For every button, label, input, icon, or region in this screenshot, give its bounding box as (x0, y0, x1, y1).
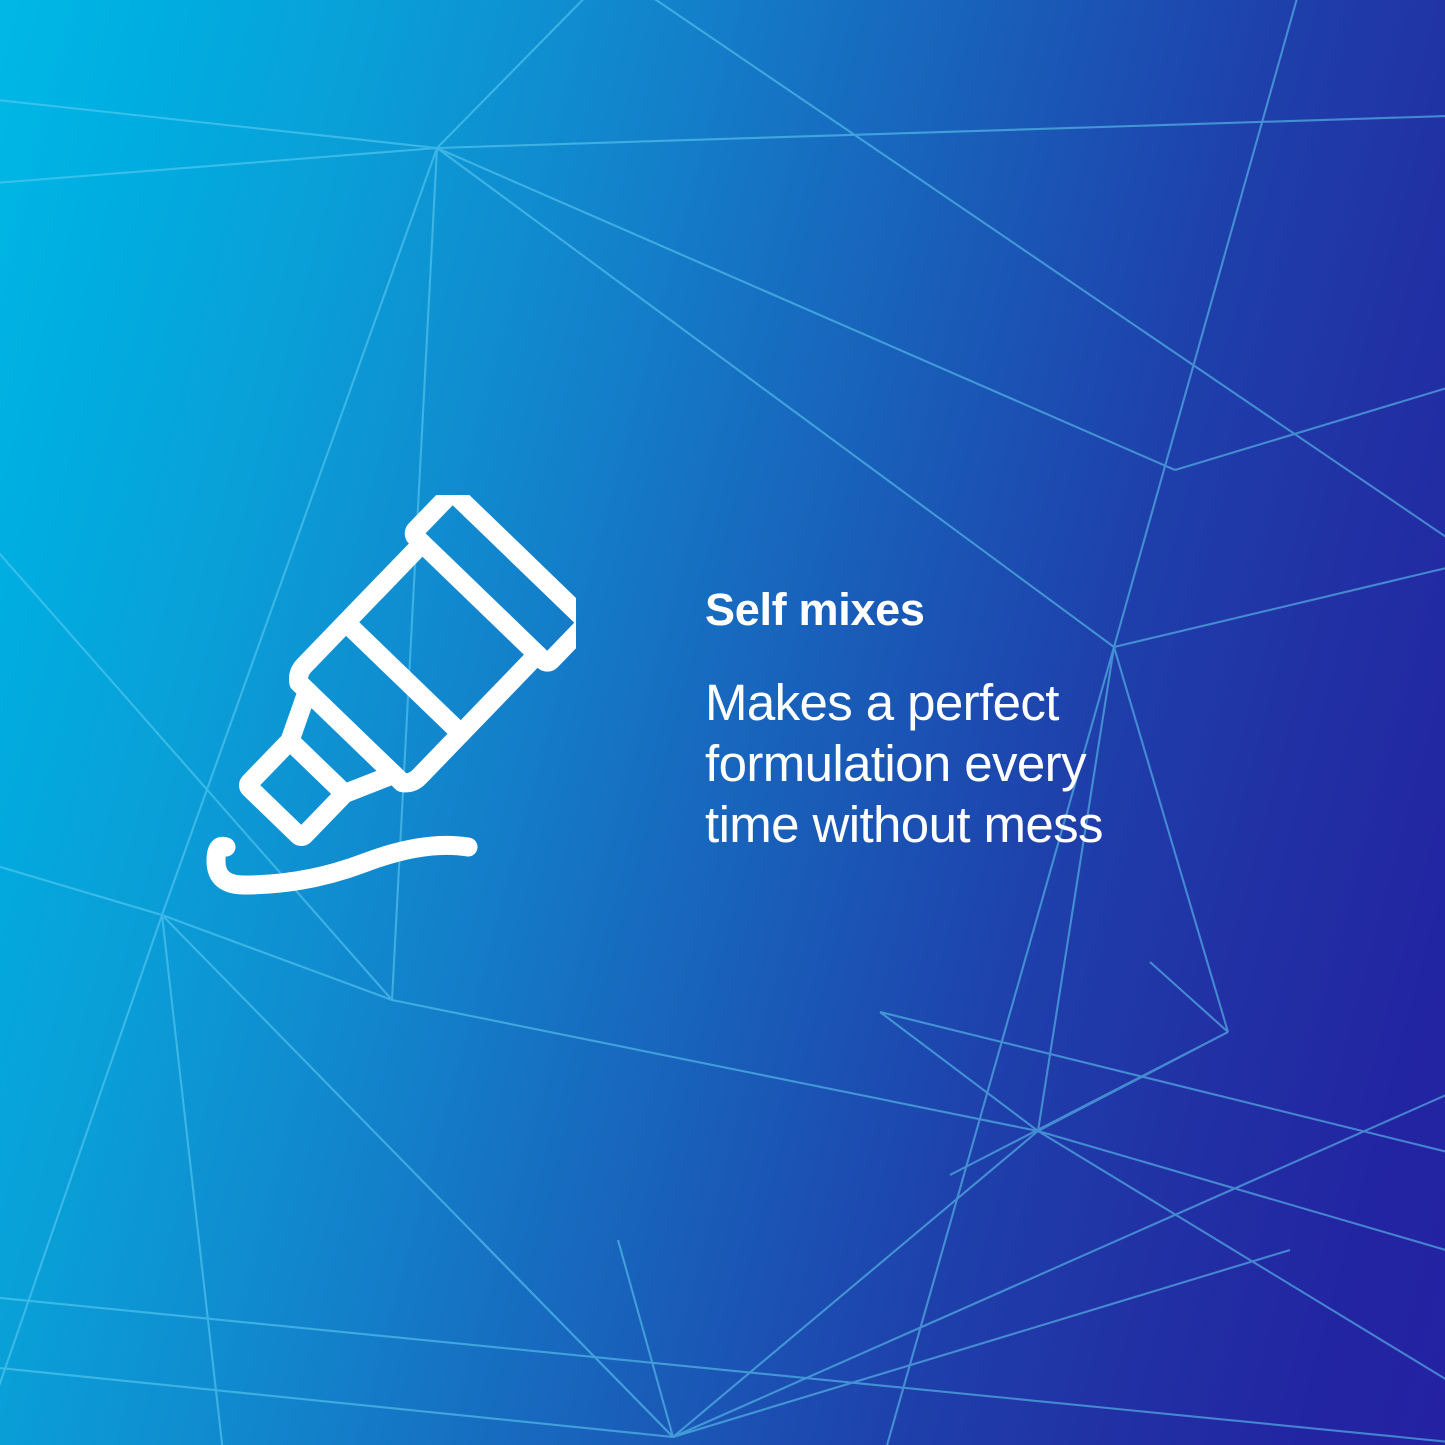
toothpaste-tube-icon (196, 495, 576, 897)
promo-feature-card: Self mixes Makes a perfect formulation e… (0, 0, 1445, 1445)
headline: Self mixes (705, 584, 1265, 636)
card-content: Self mixes Makes a perfect formulation e… (0, 0, 1445, 1445)
body-line-3: time without mess (705, 794, 1265, 855)
text-block: Self mixes Makes a perfect formulation e… (705, 584, 1265, 855)
body-line-1: Makes a perfect (705, 672, 1265, 733)
body-line-2: formulation every (705, 733, 1265, 794)
body-copy: Makes a perfect formulation every time w… (705, 636, 1265, 855)
